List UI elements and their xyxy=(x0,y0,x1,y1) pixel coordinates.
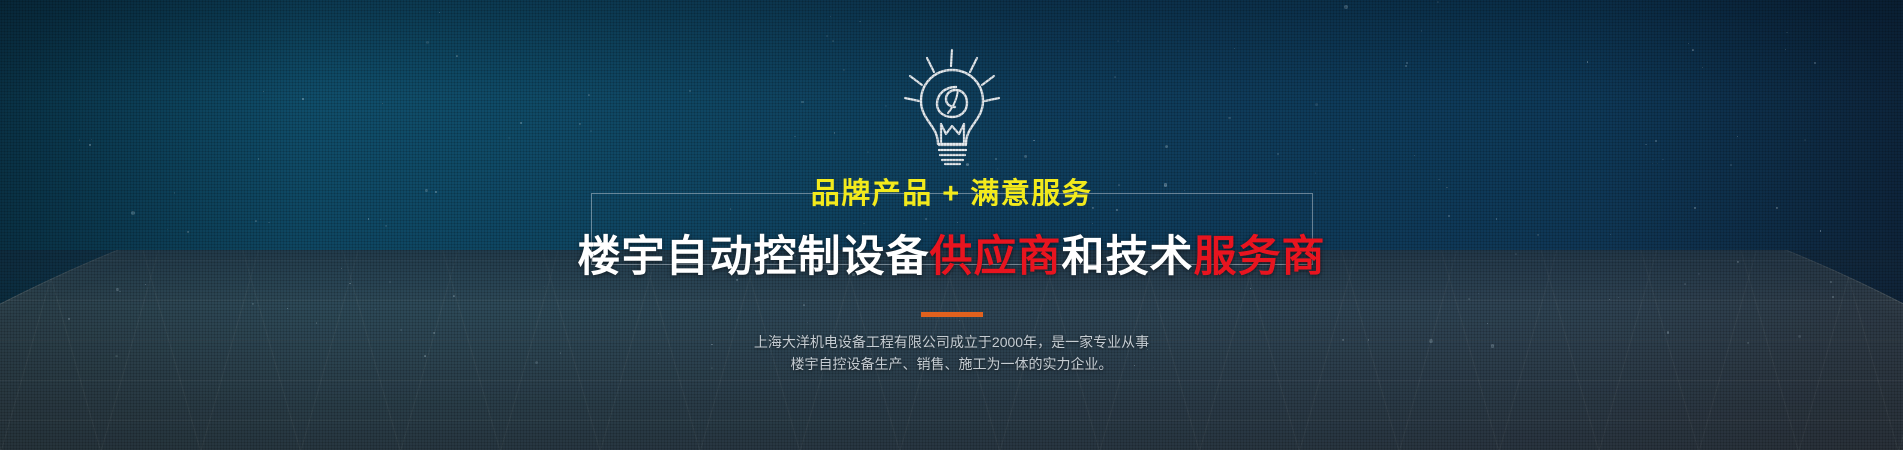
banner-content: 品牌产品 + 满意服务 楼宇自动控制设备供应商和技术服务商 上海大洋机电设备工程… xyxy=(0,0,1903,450)
headline-part-3: 和技术 xyxy=(1062,233,1194,281)
headline-part-4: 服务商 xyxy=(1194,233,1326,281)
headline-part-1: 楼宇自动控制设备 xyxy=(578,233,930,281)
description-line-1: 上海大洋机电设备工程有限公司成立于2000年，是一家专业从事 xyxy=(632,331,1272,353)
banner-tagline: 品牌产品 + 满意服务 xyxy=(811,170,1093,212)
description-line-2: 楼宇自控设备生产、销售、施工为一体的实力企业。 xyxy=(632,353,1272,375)
headline-part-2: 供应商 xyxy=(930,233,1062,281)
lightbulb-sketch-icon xyxy=(894,46,1010,166)
hero-banner: 品牌产品 + 满意服务 楼宇自动控制设备供应商和技术服务商 上海大洋机电设备工程… xyxy=(0,0,1903,450)
orange-divider xyxy=(921,312,983,317)
banner-headline: 楼宇自动控制设备供应商和技术服务商 xyxy=(578,236,1326,279)
banner-description: 上海大洋机电设备工程有限公司成立于2000年，是一家专业从事 楼宇自控设备生产、… xyxy=(632,331,1272,375)
